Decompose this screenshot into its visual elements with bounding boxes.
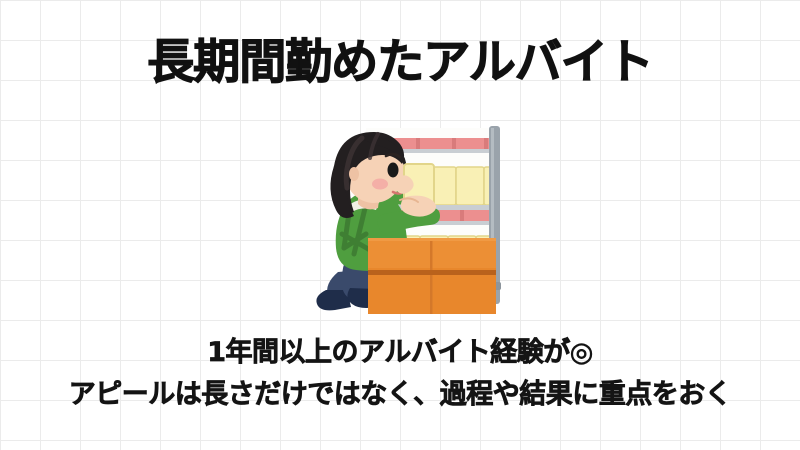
slide-canvas: 長期間勤めたアルバイト [0, 0, 800, 450]
page-title: 長期間勤めたアルバイト [0, 36, 800, 90]
warehouse-stocking-worker-illustration [292, 122, 516, 318]
cardboard-box [368, 238, 496, 314]
caption-line-2: アピールは長さだけではなく、過程や結果に重点をおく [0, 372, 800, 411]
shelf-products-upper [428, 167, 498, 205]
caption-line-1: 1年間以上のアルバイト経験が◎ [0, 330, 800, 369]
